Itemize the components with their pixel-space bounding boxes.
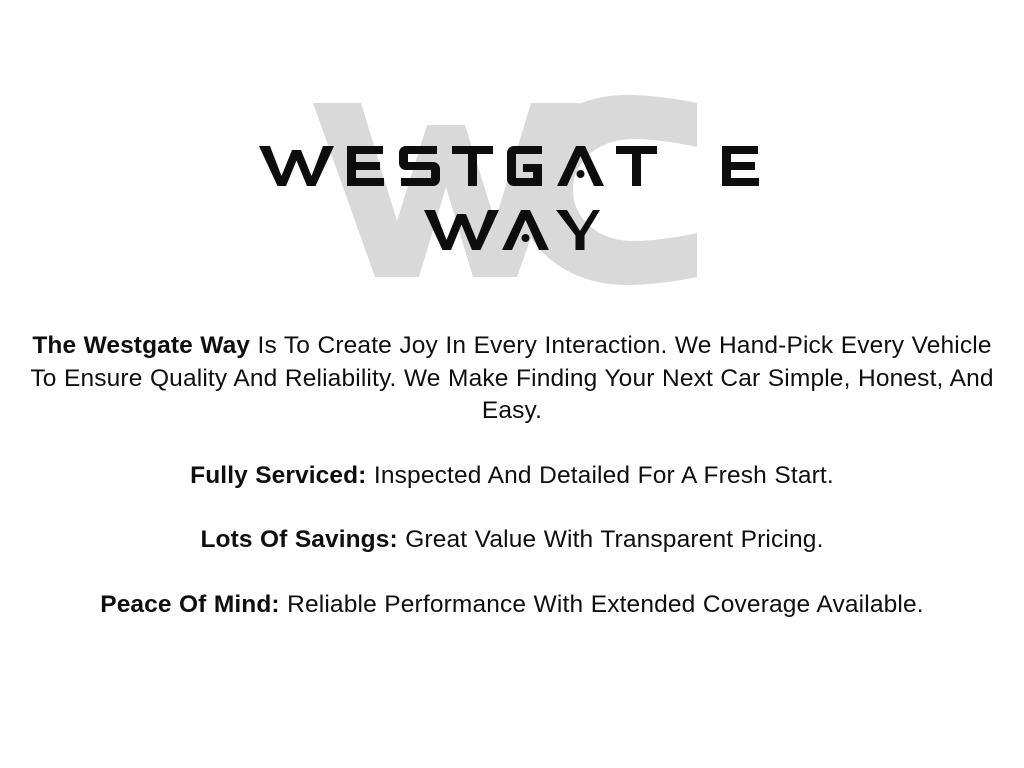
benefit-fully-serviced: Fully Serviced: Inspected And Detailed F… [28,460,996,493]
benefit-peace-of-mind: Peace Of Mind: Reliable Performance With… [28,589,996,622]
benefit-lots-of-savings: Lots Of Savings: Great Value With Transp… [28,524,996,557]
logo-wordmark-secondary [0,207,1024,255]
copy-spacer [28,557,996,589]
intro-lead-bold: The Westgate Way [32,332,250,359]
benefit-label-lots-of-savings: Lots Of Savings: [200,526,397,553]
logo-wordmark-primary [0,143,1024,191]
copy-spacer [28,492,996,524]
westgate-way-promo-page: The Westgate Way Is To Create Joy In Eve… [0,0,1024,768]
benefit-description-fully-serviced: Inspected And Detailed For A Fresh Start… [366,462,833,489]
benefit-label-fully-serviced: Fully Serviced: [190,462,366,489]
brand-logo [0,95,1024,295]
benefit-label-peace-of-mind: Peace Of Mind: [100,591,279,618]
benefit-description-peace-of-mind: Reliable Performance With Extended Cover… [280,591,924,618]
copy-spacer [28,428,996,460]
benefit-description-lots-of-savings: Great Value With Transparent Pricing. [398,526,824,553]
marketing-copy: The Westgate Way Is To Create Joy In Eve… [28,330,996,621]
intro-paragraph: The Westgate Way Is To Create Joy In Eve… [28,330,996,428]
